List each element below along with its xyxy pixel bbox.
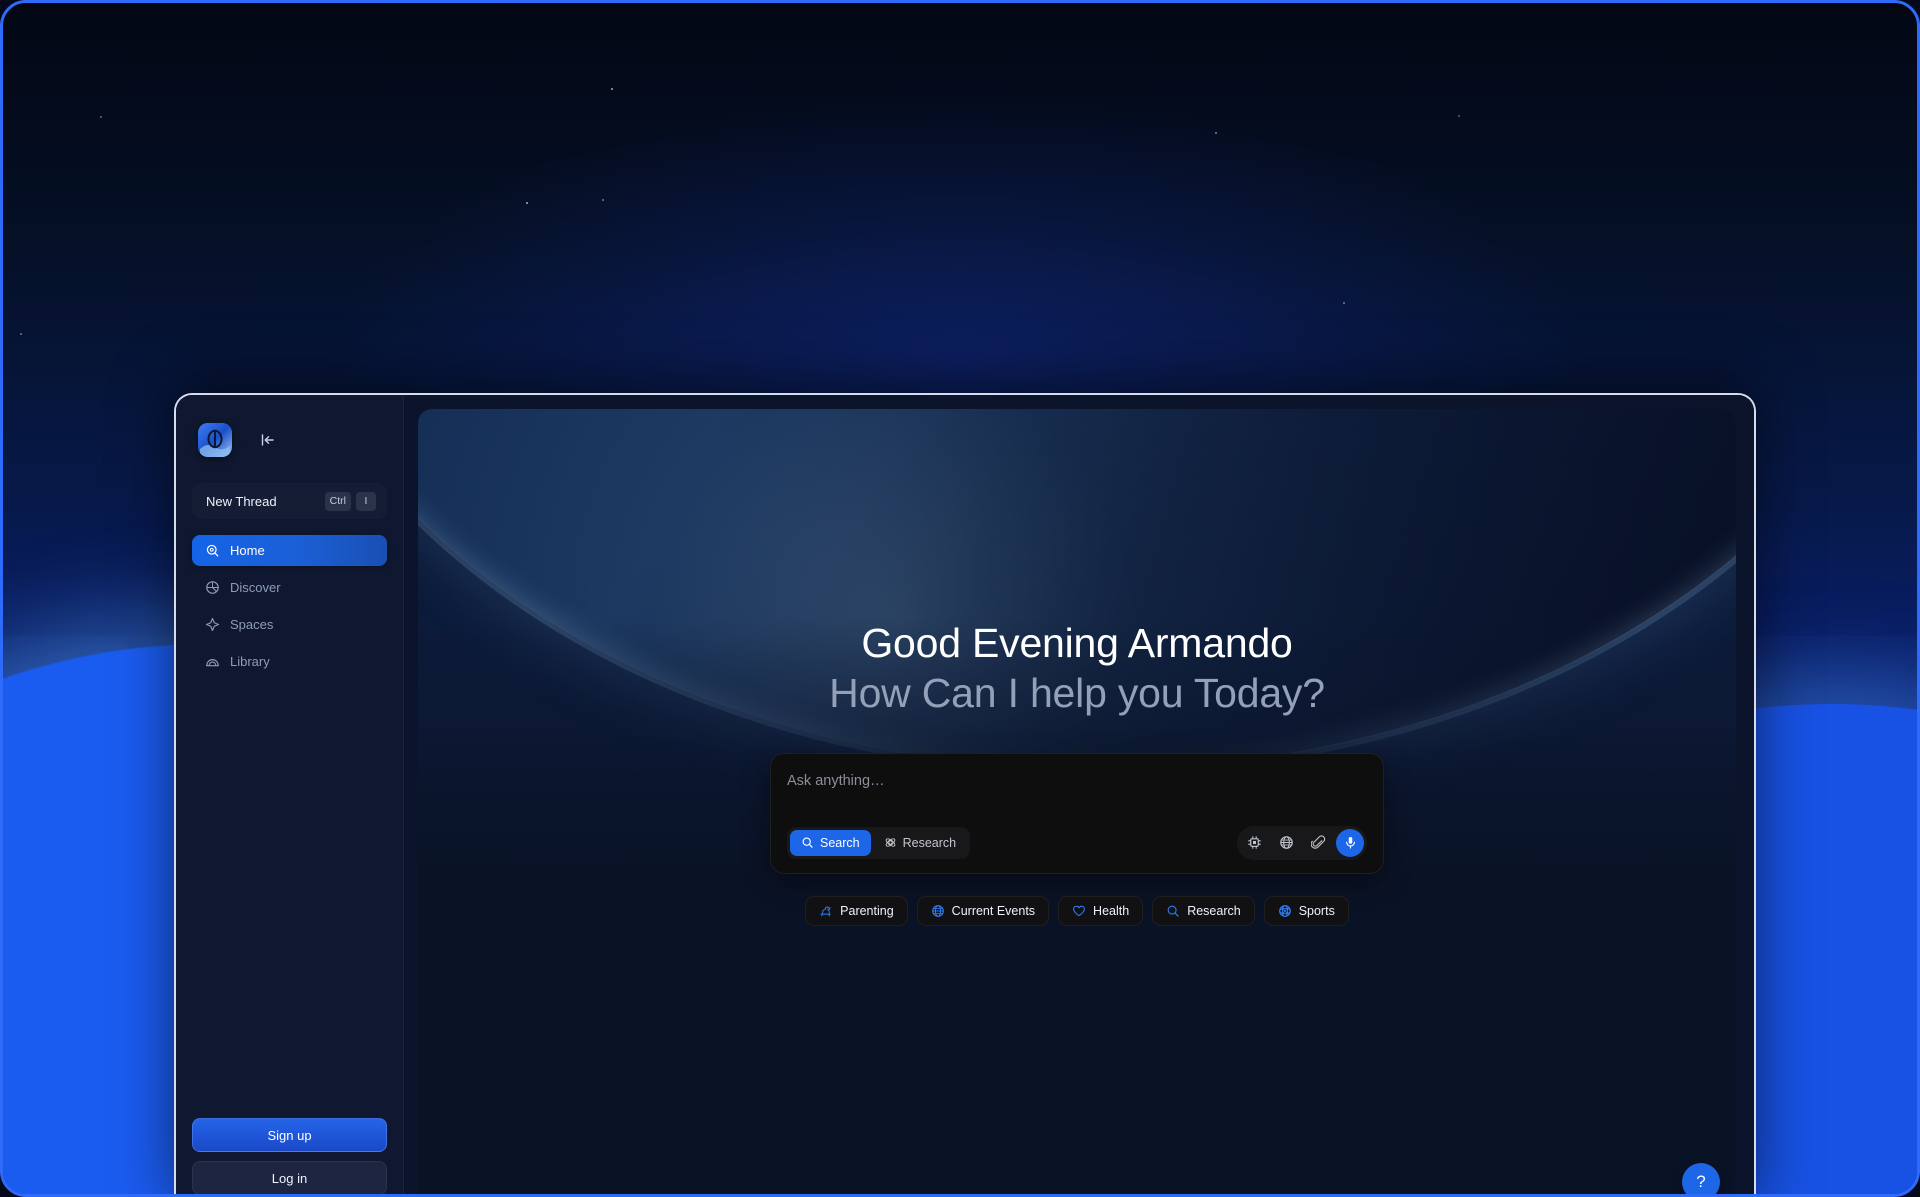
mode-label: Search xyxy=(820,836,860,850)
pill-research[interactable]: Research xyxy=(1152,896,1255,926)
pill-current-events[interactable]: Current Events xyxy=(917,896,1049,926)
sidebar-item-library[interactable]: Library xyxy=(192,646,387,677)
app-window: New Thread Ctrl I Home xyxy=(174,393,1756,1197)
sidebar-item-home[interactable]: Home xyxy=(192,535,387,566)
sidebar-item-label: Discover xyxy=(230,580,281,595)
sidebar-item-spaces[interactable]: Spaces xyxy=(192,609,387,640)
pill-label: Sports xyxy=(1299,904,1335,918)
main-content: Good Evening Armando How Can I help you … xyxy=(404,395,1754,1197)
star xyxy=(1215,132,1217,134)
perplexity-logo-icon[interactable] xyxy=(198,423,232,457)
attachment-paperclip-icon[interactable] xyxy=(1304,829,1332,857)
search-input[interactable] xyxy=(787,770,1367,792)
mode-research-button[interactable]: Research xyxy=(873,830,968,856)
pill-sports[interactable]: Sports xyxy=(1264,896,1349,926)
help-button[interactable]: ? xyxy=(1682,1163,1720,1197)
pill-parenting[interactable]: Parenting xyxy=(805,896,908,926)
suggestion-pills: Parenting Current Events xyxy=(805,896,1349,926)
composer-toolbar: Search Research xyxy=(787,826,1367,860)
sign-up-button[interactable]: Sign up xyxy=(192,1118,387,1152)
star xyxy=(611,88,613,90)
discover-globe-icon xyxy=(205,580,220,595)
sidebar-nav: Home Discover xyxy=(192,535,387,677)
pill-label: Health xyxy=(1093,904,1129,918)
sidebar: New Thread Ctrl I Home xyxy=(176,395,404,1197)
star xyxy=(1343,302,1345,304)
home-search-icon xyxy=(205,543,220,558)
star xyxy=(1458,115,1460,117)
new-thread-label: New Thread xyxy=(206,494,277,509)
star xyxy=(100,116,102,118)
kbd-i: I xyxy=(356,492,376,511)
star xyxy=(20,333,22,335)
sidebar-item-label: Spaces xyxy=(230,617,273,632)
composer-tools xyxy=(1237,826,1367,860)
new-thread-button[interactable]: New Thread Ctrl I xyxy=(192,483,387,519)
mode-label: Research xyxy=(903,836,957,850)
sidebar-item-label: Home xyxy=(230,543,265,558)
star xyxy=(602,199,604,201)
new-thread-shortcut: Ctrl I xyxy=(325,492,376,511)
mode-toggle-group: Search Research xyxy=(787,827,970,859)
mode-search-button[interactable]: Search xyxy=(790,830,871,856)
pill-label: Parenting xyxy=(840,904,894,918)
star xyxy=(526,202,528,204)
log-in-button[interactable]: Log in xyxy=(192,1161,387,1195)
collapse-sidebar-icon[interactable] xyxy=(260,432,276,448)
globe-icon[interactable] xyxy=(1272,829,1300,857)
sidebar-header xyxy=(176,411,403,463)
microphone-icon[interactable] xyxy=(1336,829,1364,857)
pill-label: Research xyxy=(1187,904,1241,918)
spaces-sparkle-icon xyxy=(205,617,220,632)
model-chip-icon[interactable] xyxy=(1240,829,1268,857)
pill-health[interactable]: Health xyxy=(1058,896,1143,926)
ask-composer: Search Research xyxy=(770,753,1384,874)
library-icon xyxy=(205,654,220,669)
page-title: Good Evening Armando xyxy=(861,621,1292,667)
desktop-wallpaper: New Thread Ctrl I Home xyxy=(0,0,1920,1197)
sidebar-item-discover[interactable]: Discover xyxy=(192,572,387,603)
home-content: Good Evening Armando How Can I help you … xyxy=(418,409,1736,926)
pill-label: Current Events xyxy=(952,904,1035,918)
page-subtitle: How Can I help you Today? xyxy=(829,671,1325,717)
kbd-ctrl: Ctrl xyxy=(325,492,351,511)
sidebar-footer: Sign up Log in xyxy=(176,1118,403,1197)
sidebar-item-label: Library xyxy=(230,654,270,669)
